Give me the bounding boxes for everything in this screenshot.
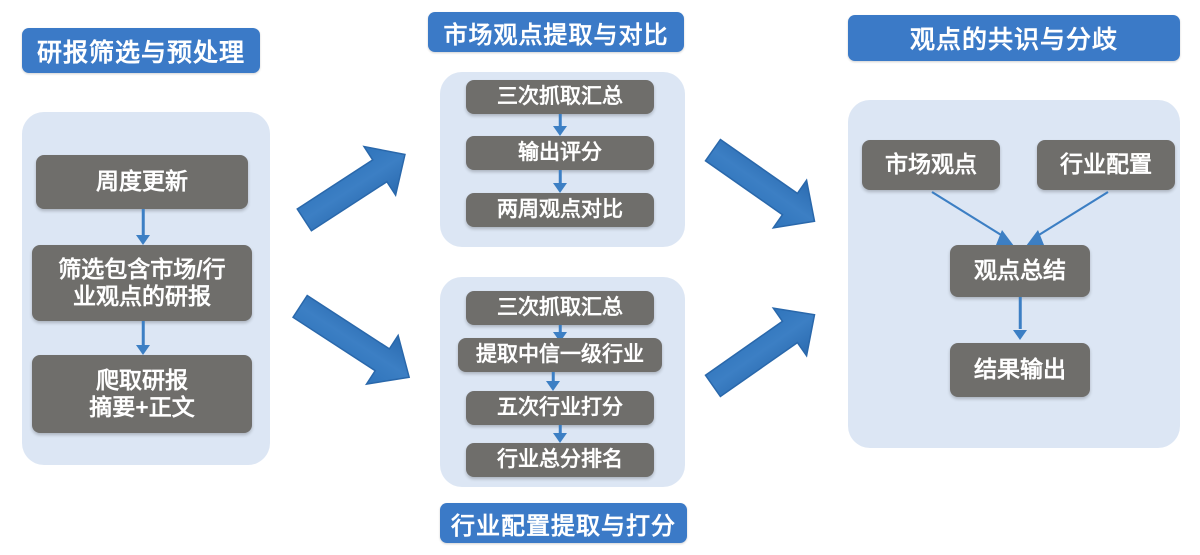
stage-banner-market-view-label: 市场观点提取与对比 [444, 15, 669, 50]
process-box-five-industry-score: 五次行业打分 [466, 391, 654, 425]
process-box-industry-config-label: 行业配置 [1060, 151, 1152, 178]
process-box-two-week-compare-label: 两周观点对比 [497, 198, 623, 223]
stage-banner-consensus-label: 观点的共识与分歧 [910, 20, 1118, 56]
process-box-extract-citic-industry: 提取中信一级行业 [458, 338, 662, 372]
block-arrow-screening-to-industry-alloc [283, 292, 433, 397]
process-box-output-score-label: 输出评分 [518, 141, 602, 166]
process-box-industry-total-rank: 行业总分排名 [466, 443, 654, 477]
process-box-result-output-label: 结果输出 [974, 356, 1066, 383]
process-box-filter-reports-label: 筛选包含市场/行 业观点的研报 [58, 256, 225, 310]
stage-banner-market-view: 市场观点提取与对比 [428, 12, 684, 52]
connector-arrow-weekly-to-filter [135, 209, 151, 245]
process-box-output-score: 输出评分 [466, 136, 654, 170]
process-box-weekly-update-label: 周度更新 [96, 168, 188, 195]
process-box-industry-total-rank-label: 行业总分排名 [497, 448, 623, 473]
connector-arrow-filter-to-crawl [135, 321, 151, 355]
connector-arrow-five-score-to-rank [552, 425, 568, 443]
process-box-crawl-reports: 爬取研报 摘要+正文 [32, 355, 252, 433]
process-box-weekly-update: 周度更新 [36, 155, 248, 209]
process-box-filter-reports: 筛选包含市场/行 业观点的研报 [32, 245, 252, 321]
block-arrow-screening-to-market-view [288, 130, 428, 240]
stage-banner-consensus: 观点的共识与分歧 [848, 15, 1180, 61]
process-box-two-week-compare: 两周观点对比 [466, 193, 654, 227]
connector-arrow-citic-to-five-score [545, 372, 561, 391]
process-box-crawl-reports-label: 爬取研报 摘要+正文 [89, 367, 194, 421]
flowchart-canvas: 研报筛选与预处理 周度更新 筛选包含市场/行 业观点的研报 爬取研报 摘要+正文… [0, 0, 1200, 555]
process-box-three-crawl-summary-b: 三次抓取汇总 [466, 291, 654, 325]
stage-banner-screening-label: 研报筛选与预处理 [37, 33, 245, 69]
process-box-result-output: 结果输出 [950, 343, 1090, 397]
process-box-industry-config: 行业配置 [1037, 140, 1175, 190]
connector-arrow-summary-to-output [1012, 297, 1028, 340]
stage-banner-industry-alloc-label: 行业配置提取与打分 [451, 506, 676, 541]
process-box-view-summary: 观点总结 [950, 245, 1090, 297]
process-box-three-crawl-summary-b-label: 三次抓取汇总 [497, 296, 623, 321]
connector-arrow-score-to-compare [552, 170, 568, 193]
connector-merge-into-summary [930, 190, 1110, 250]
process-box-market-view-label: 市场观点 [885, 151, 977, 178]
connector-arrow-crawl-to-score [552, 114, 568, 136]
process-box-market-view: 市场观点 [862, 140, 1000, 190]
block-arrow-market-view-to-consensus [697, 136, 837, 241]
block-arrow-industry-alloc-to-consensus [697, 296, 837, 401]
process-box-three-crawl-summary-a-label: 三次抓取汇总 [497, 85, 623, 110]
process-box-view-summary-label: 观点总结 [974, 257, 1066, 284]
stage-banner-screening: 研报筛选与预处理 [22, 28, 260, 73]
process-box-five-industry-score-label: 五次行业打分 [497, 396, 623, 421]
process-box-extract-citic-industry-label: 提取中信一级行业 [476, 343, 644, 368]
stage-banner-industry-alloc: 行业配置提取与打分 [440, 503, 687, 543]
process-box-three-crawl-summary-a: 三次抓取汇总 [466, 80, 654, 114]
